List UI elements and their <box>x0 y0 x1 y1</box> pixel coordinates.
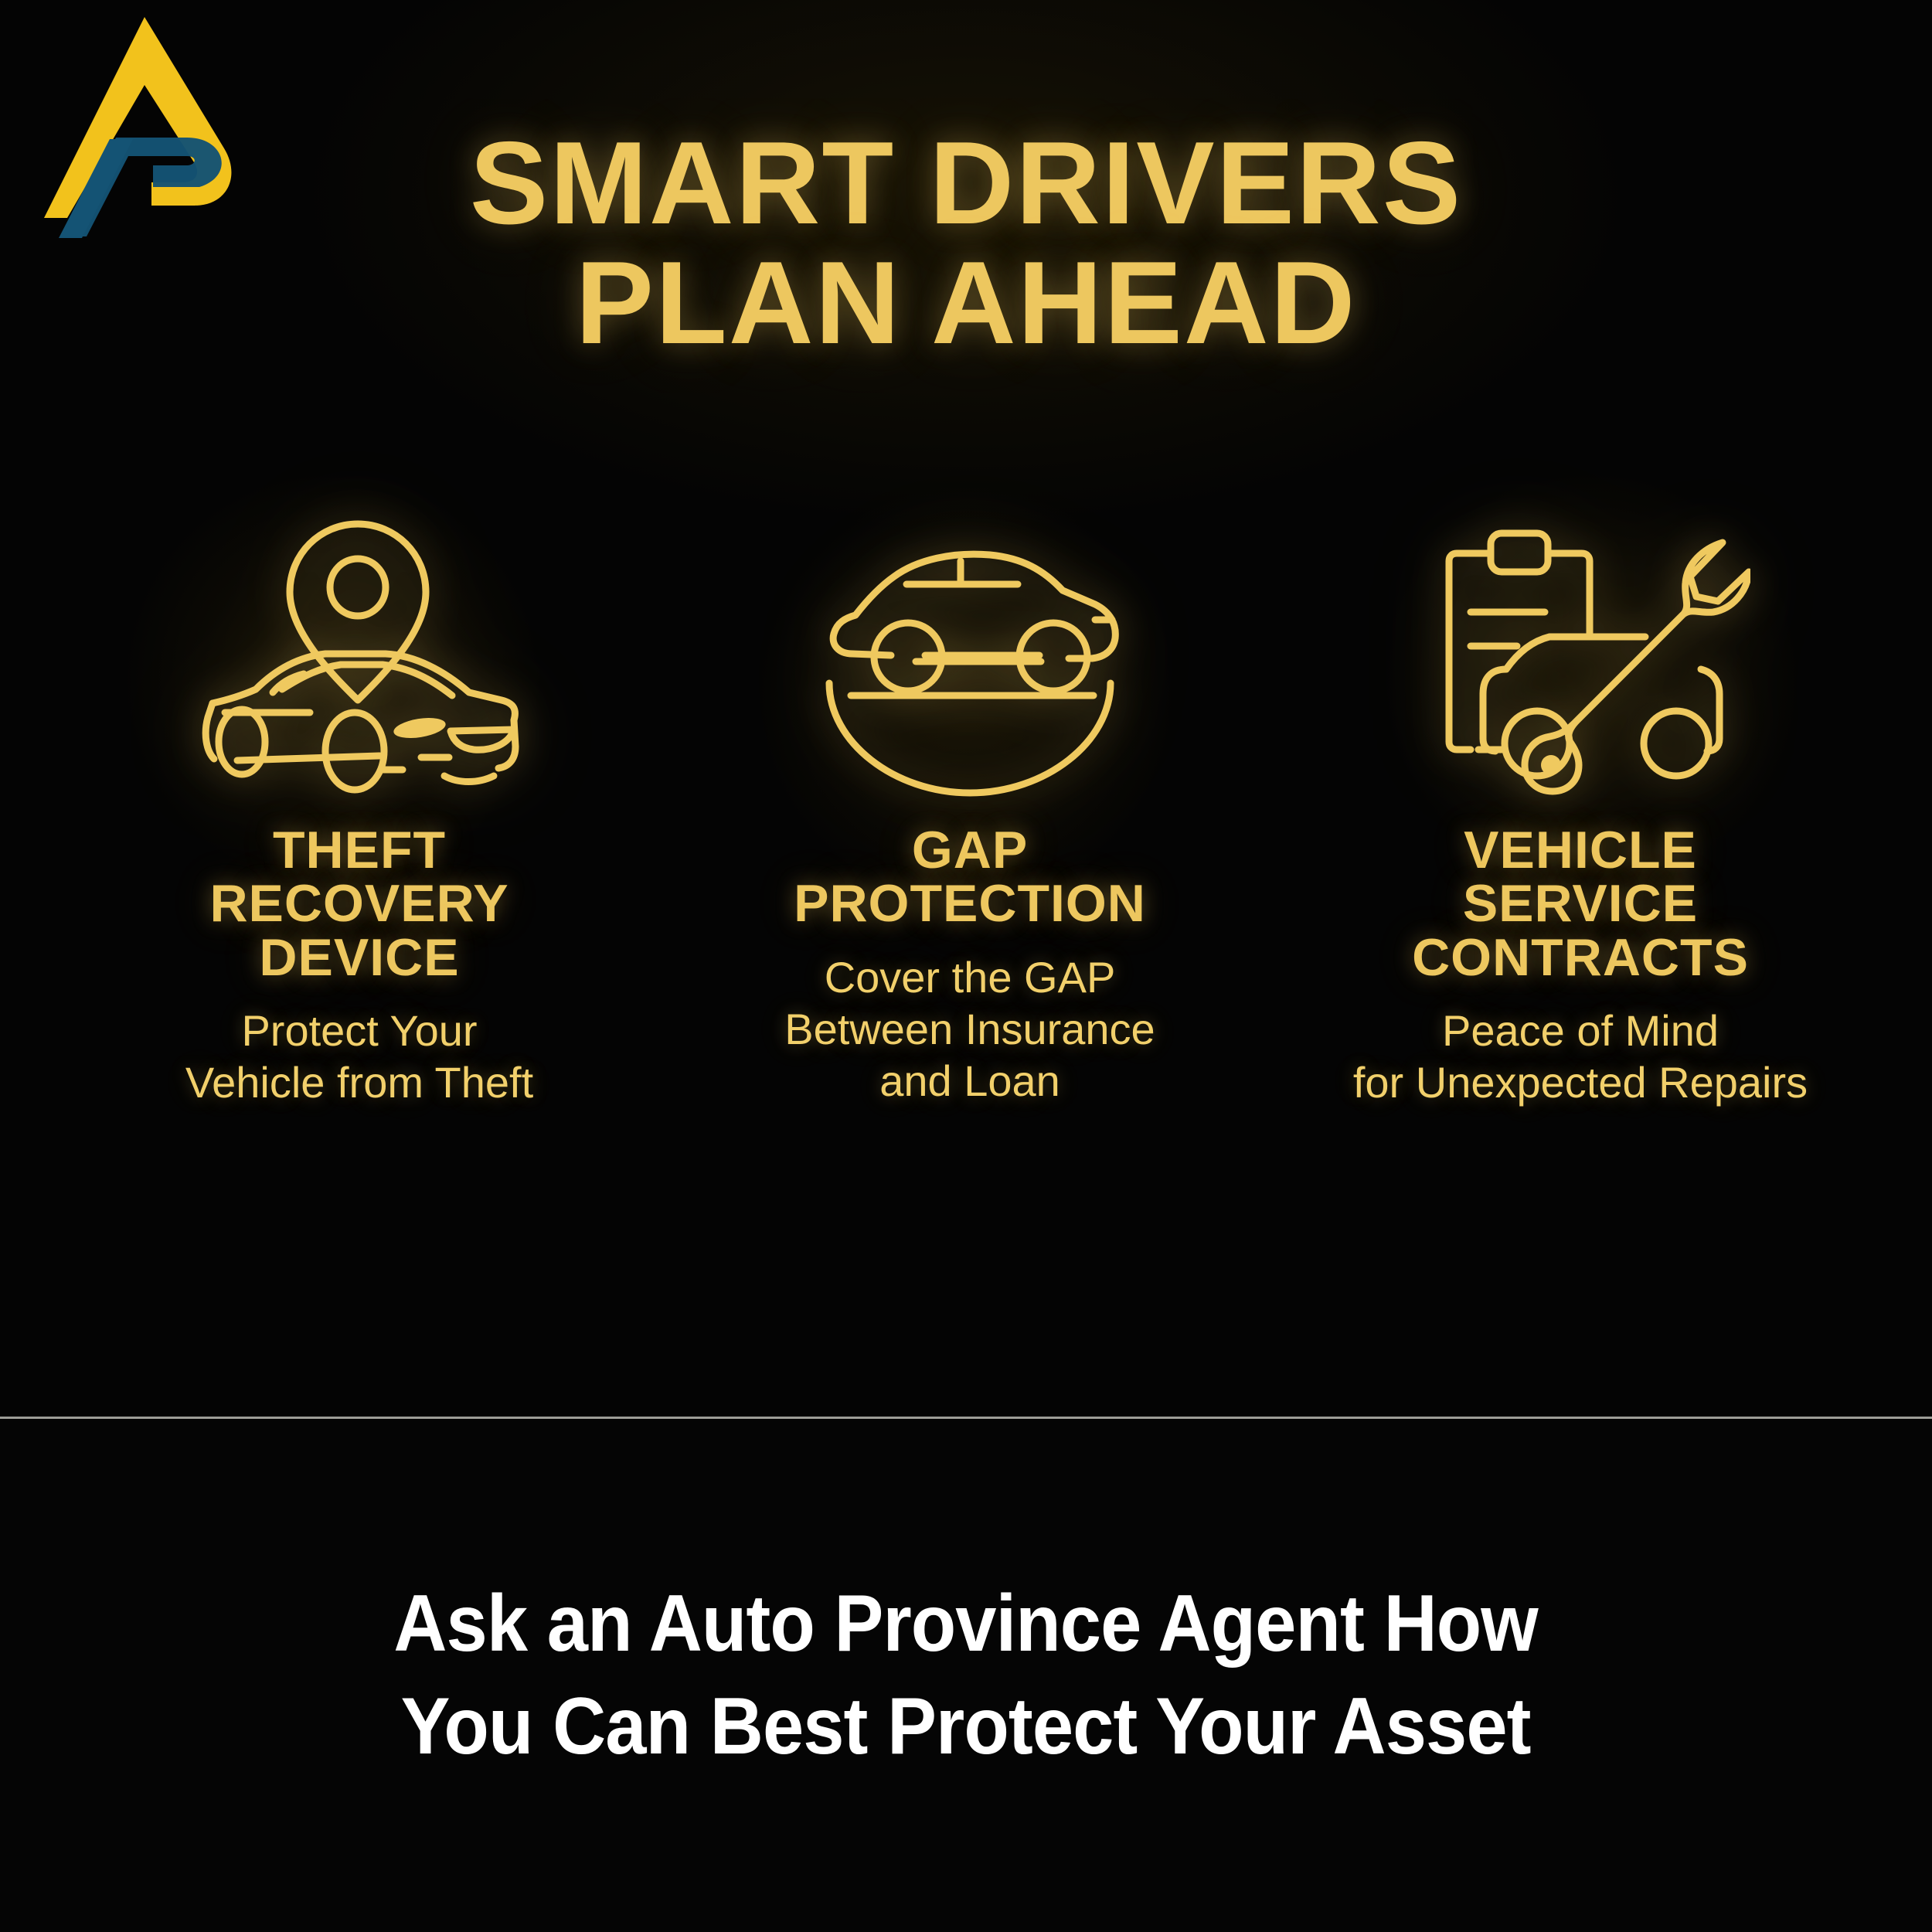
feature-title-gap-protection: GAP PROTECTION <box>794 824 1146 931</box>
feature-subtitle-line: Vehicle from Theft <box>185 1056 533 1108</box>
feature-title-line: SERVICE <box>1412 877 1749 930</box>
feature-title-line: CONTRACTS <box>1412 931 1749 985</box>
logo-letter-a-shape <box>44 17 231 218</box>
feature-column-theft-recovery[interactable]: THEFT RECOVERY DEVICE Protect Your Vehic… <box>54 495 665 1108</box>
feature-columns: THEFT RECOVERY DEVICE Protect Your Vehic… <box>0 495 1932 1314</box>
feature-subtitle-theft-recovery: Protect Your Vehicle from Theft <box>185 1005 533 1108</box>
cta-banner-text: Ask an Auto Province Agent How You Can B… <box>394 1573 1538 1778</box>
feature-column-gap-protection[interactable]: GAP PROTECTION Cover the GAP Between Ins… <box>665 495 1275 1107</box>
feature-subtitle-vehicle-service: Peace of Mind for Unexpected Repairs <box>1353 1005 1808 1108</box>
feature-subtitle-line: for Unexpected Repairs <box>1353 1056 1808 1108</box>
feature-subtitle-line: Protect Your <box>185 1005 533 1056</box>
feature-subtitle-line: Cover the GAP <box>784 951 1155 1003</box>
feature-title-line: VEHICLE <box>1412 824 1749 877</box>
feature-title-line: PROTECTION <box>794 877 1146 930</box>
poster-root: SMART DRIVERS PLAN AHEAD <box>0 0 1932 1932</box>
feature-title-line: GAP <box>794 824 1146 877</box>
feature-subtitle-line: Peace of Mind <box>1353 1005 1808 1056</box>
feature-title-vehicle-service: VEHICLE SERVICE CONTRACTS <box>1412 824 1749 985</box>
cta-banner: Ask an Auto Province Agent How You Can B… <box>0 1419 1932 1932</box>
feature-column-vehicle-service[interactable]: VEHICLE SERVICE CONTRACTS Peace of Mind … <box>1275 495 1886 1108</box>
feature-title-line: DEVICE <box>209 931 509 985</box>
feature-title-line: THEFT <box>209 824 509 877</box>
car-location-pin-icon <box>54 495 665 819</box>
headline-line-2: PLAN AHEAD <box>232 243 1700 363</box>
feature-subtitle-line: and Loan <box>784 1055 1155 1107</box>
car-shield-icon <box>665 495 1275 819</box>
headline-line-1: SMART DRIVERS <box>232 124 1700 243</box>
feature-title-line: RECOVERY <box>209 877 509 930</box>
page-title: SMART DRIVERS PLAN AHEAD <box>232 124 1700 363</box>
cta-line-1: Ask an Auto Province Agent How <box>394 1573 1538 1675</box>
clipboard-car-wrench-icon <box>1275 495 1886 819</box>
feature-subtitle-line: Between Insurance <box>784 1003 1155 1055</box>
feature-title-theft-recovery: THEFT RECOVERY DEVICE <box>209 824 509 985</box>
cta-line-2: You Can Best Protect Your Asset <box>394 1675 1538 1778</box>
feature-subtitle-gap-protection: Cover the GAP Between Insurance and Loan <box>784 951 1155 1107</box>
